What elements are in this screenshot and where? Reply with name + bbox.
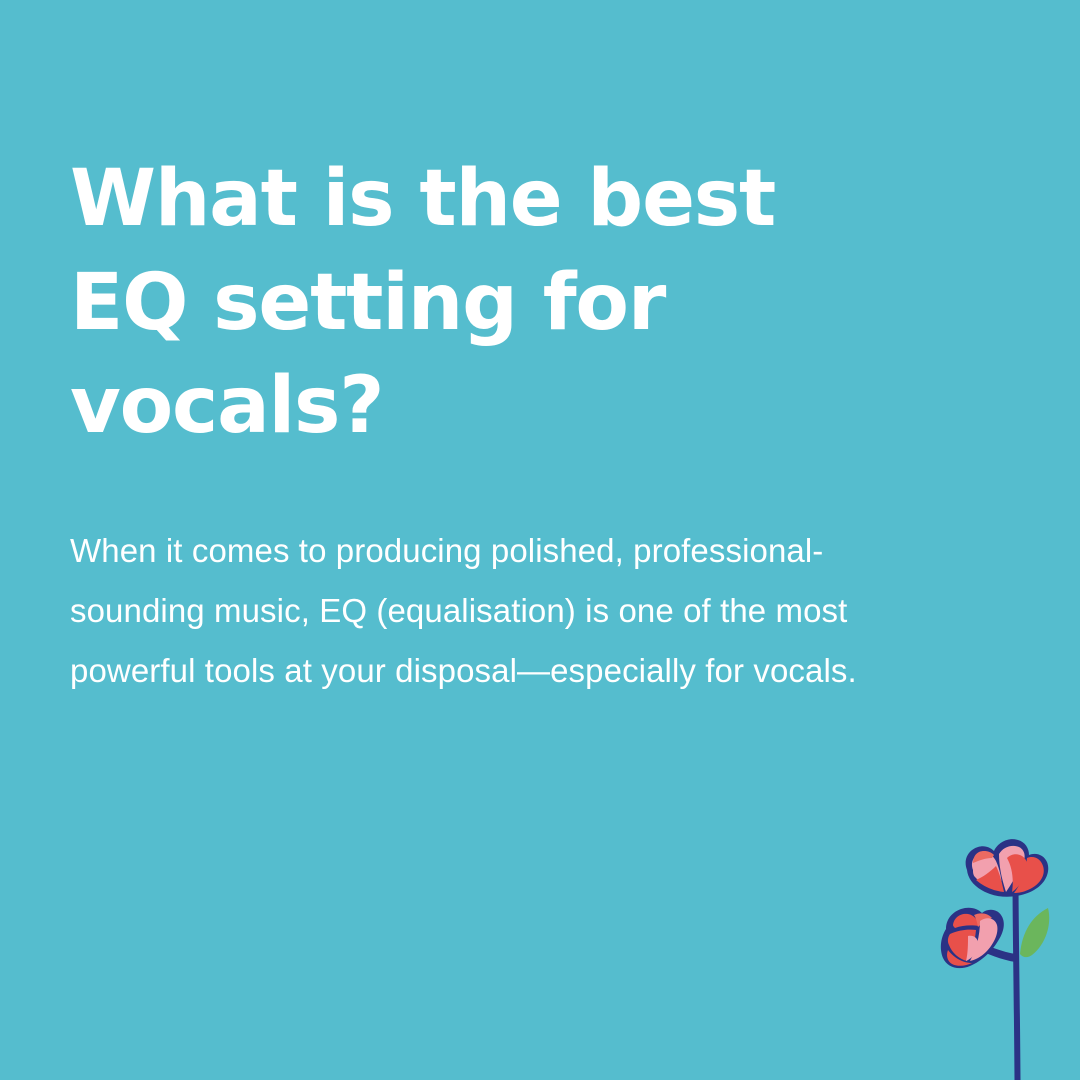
page-title: What is the best EQ setting for vocals? [70,148,900,459]
leaf [1020,908,1049,957]
social-card: What is the best EQ setting for vocals? … [0,0,1080,1080]
poppy-flower-icon [930,824,1080,1080]
upper-bloom [966,839,1049,897]
stem-main [1013,876,1021,1080]
flower-stem-group [972,876,1021,1080]
body-paragraph: When it comes to producing polished, pro… [70,459,950,701]
text-block: What is the best EQ setting for vocals? … [70,148,950,701]
lower-bloom [941,908,1004,968]
